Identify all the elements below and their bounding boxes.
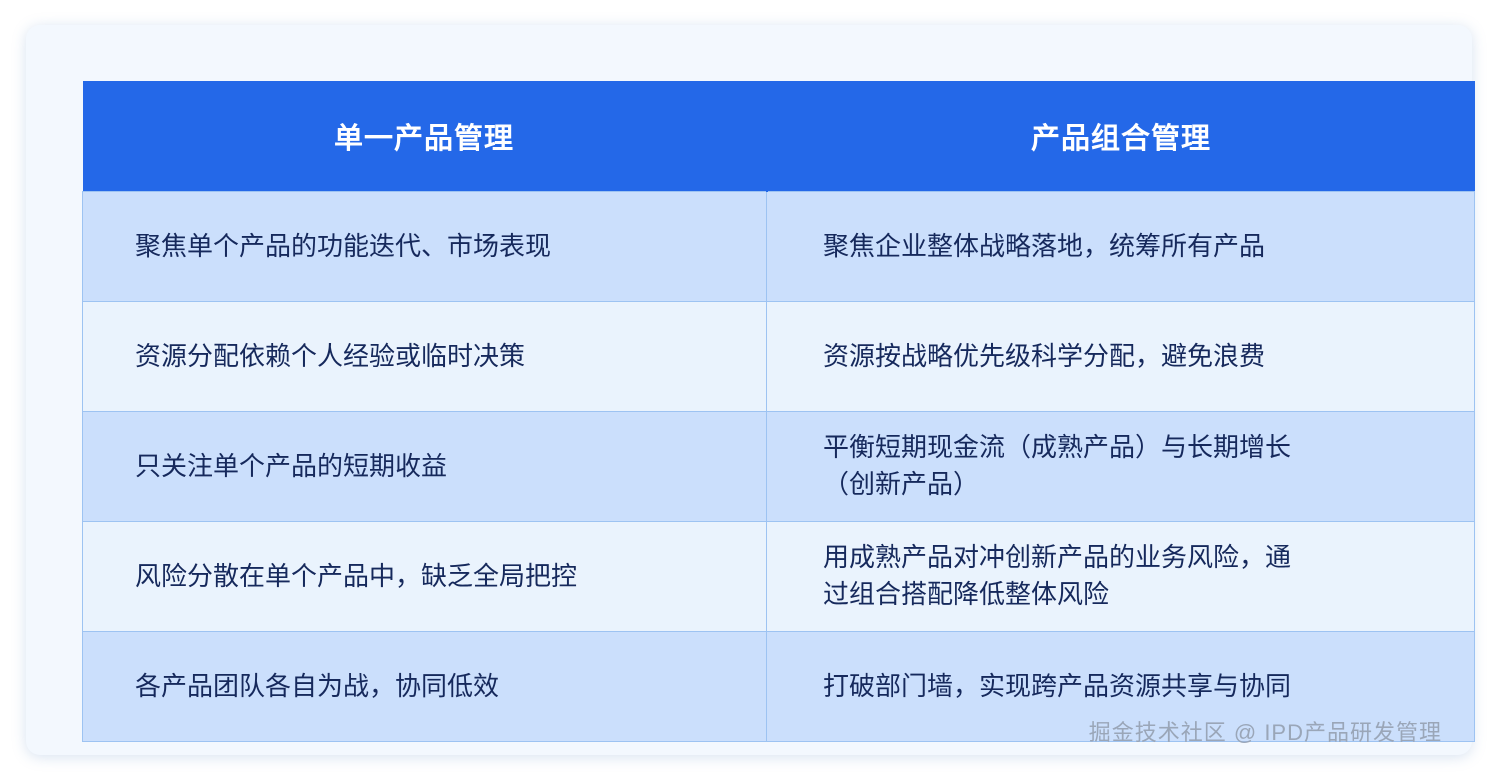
table-header-row: 单一产品管理 产品组合管理 bbox=[83, 81, 1475, 191]
cell-single-product-5: 各产品团队各自为战，协同低效 bbox=[83, 631, 767, 741]
cell-line: 资源按战略优先级科学分配，避免浪费 bbox=[823, 338, 1454, 375]
column-header-single-product: 单一产品管理 bbox=[83, 81, 767, 191]
cell-line: 聚焦企业整体战略落地，统筹所有产品 bbox=[823, 228, 1454, 265]
watermark-text: 掘金技术社区 @ IPD产品研发管理 bbox=[1089, 715, 1442, 747]
cell-line: 打破部门墙，实现跨产品资源共享与协同 bbox=[823, 668, 1454, 705]
cell-portfolio-4: 用成熟产品对冲创新产品的业务风险，通 过组合搭配降低整体风险 bbox=[767, 521, 1475, 631]
cell-line: 平衡短期现金流（成熟产品）与长期增长 bbox=[823, 429, 1454, 466]
cell-portfolio-2: 资源按战略优先级科学分配，避免浪费 bbox=[767, 301, 1475, 411]
cell-single-product-1: 聚焦单个产品的功能迭代、市场表现 bbox=[83, 191, 767, 301]
table-row: 只关注单个产品的短期收益 平衡短期现金流（成熟产品）与长期增长 （创新产品） bbox=[83, 411, 1475, 521]
cell-line: 各产品团队各自为战，协同低效 bbox=[135, 668, 746, 705]
cell-line: 资源分配依赖个人经验或临时决策 bbox=[135, 338, 746, 375]
table-body: 聚焦单个产品的功能迭代、市场表现 聚焦企业整体战略落地，统筹所有产品 资源分配依… bbox=[83, 191, 1475, 741]
comparison-card: 单一产品管理 产品组合管理 聚焦单个产品的功能迭代、市场表现 聚焦企业整体战略落… bbox=[26, 25, 1472, 755]
table-row: 聚焦单个产品的功能迭代、市场表现 聚焦企业整体战略落地，统筹所有产品 bbox=[83, 191, 1475, 301]
cell-line: 过组合搭配降低整体风险 bbox=[823, 576, 1454, 613]
cell-line: 用成熟产品对冲创新产品的业务风险，通 bbox=[823, 539, 1454, 576]
table-row: 资源分配依赖个人经验或临时决策 资源按战略优先级科学分配，避免浪费 bbox=[83, 301, 1475, 411]
table-header: 单一产品管理 产品组合管理 bbox=[83, 81, 1475, 191]
cell-line: （创新产品） bbox=[823, 466, 1454, 503]
cell-single-product-3: 只关注单个产品的短期收益 bbox=[83, 411, 767, 521]
comparison-table: 单一产品管理 产品组合管理 聚焦单个产品的功能迭代、市场表现 聚焦企业整体战略落… bbox=[82, 81, 1475, 742]
cell-single-product-2: 资源分配依赖个人经验或临时决策 bbox=[83, 301, 767, 411]
cell-portfolio-3: 平衡短期现金流（成熟产品）与长期增长 （创新产品） bbox=[767, 411, 1475, 521]
column-header-product-portfolio: 产品组合管理 bbox=[767, 81, 1475, 191]
table-row: 风险分散在单个产品中，缺乏全局把控 用成熟产品对冲创新产品的业务风险，通 过组合… bbox=[83, 521, 1475, 631]
cell-line: 只关注单个产品的短期收益 bbox=[135, 448, 746, 485]
cell-portfolio-1: 聚焦企业整体战略落地，统筹所有产品 bbox=[767, 191, 1475, 301]
cell-single-product-4: 风险分散在单个产品中，缺乏全局把控 bbox=[83, 521, 767, 631]
screenshot-canvas: 单一产品管理 产品组合管理 聚焦单个产品的功能迭代、市场表现 聚焦企业整体战略落… bbox=[0, 0, 1500, 773]
cell-line: 风险分散在单个产品中，缺乏全局把控 bbox=[135, 558, 746, 595]
cell-line: 聚焦单个产品的功能迭代、市场表现 bbox=[135, 228, 746, 265]
